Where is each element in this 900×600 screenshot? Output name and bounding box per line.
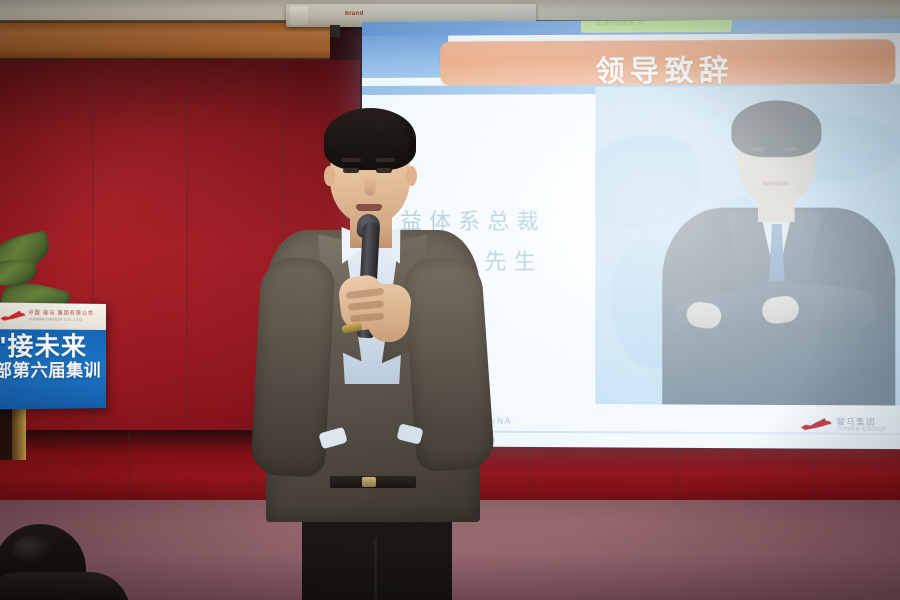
wood-beam (0, 23, 330, 61)
velvet-seam (128, 430, 130, 505)
banner-header-en: JUNMA GROUP CO.,LTD (28, 317, 94, 322)
banner-header: 中国 骏马 集团有限公司 JUNMA GROUP CO.,LTD (0, 302, 106, 330)
portrait-figure (648, 94, 900, 406)
speaker-ear-right (406, 166, 417, 186)
footer-right-wordmark: 骏马集团 JUNMA GROUP (837, 417, 887, 433)
audience-head-highlight (12, 536, 52, 564)
speaker-hair (324, 108, 416, 170)
speaker-brow-right (376, 158, 395, 162)
footer-right-cn: 骏马集团 (837, 417, 887, 427)
speaker-nose (364, 176, 376, 196)
portrait-eye-right (785, 147, 797, 151)
banner-subline: 部第六届集训 (0, 362, 106, 381)
roller-end-cap (290, 6, 308, 25)
portrait-hair (731, 100, 821, 157)
speaker-figure (250, 108, 500, 600)
speaker-eye-right (376, 168, 392, 173)
speaker-ear-left (324, 166, 335, 186)
slide-footer-logo-right: 骏马集团 JUNMA GROUP (801, 417, 887, 433)
speaker-leg-seam (374, 538, 377, 600)
roller-brand-label: brand (345, 11, 364, 17)
speaker-belt-buckle (362, 477, 376, 487)
speaker-mouth (356, 204, 382, 211)
banner-headline: "接未来 (0, 333, 106, 360)
roller-mount-stem (330, 25, 340, 37)
running-horse-icon (0, 310, 25, 322)
slide-portrait-photo (595, 86, 900, 406)
running-horse-icon (801, 418, 832, 431)
standing-banner: 中国 骏马 集团有限公司 JUNMA GROUP CO.,LTD "接未来 部第… (0, 302, 106, 409)
portrait-mouth (762, 181, 789, 185)
presentation-photo-scene: brand 企业内训系列 领导致辞 益体系总裁 建新 先生 (0, 0, 900, 600)
portrait-eye-left (752, 147, 764, 151)
speaker-brow-left (342, 158, 361, 162)
slide-green-tab-label: 企业内训系列 (595, 19, 644, 28)
banner-header-text: 中国 骏马 集团有限公司 JUNMA GROUP CO.,LTD (28, 311, 94, 322)
banner-body: "接未来 部第六届集训 (0, 329, 106, 409)
slide-left-blue-block (362, 36, 448, 78)
footer-right-en: JUNMA GROUP (837, 426, 887, 433)
speaker-eye-left (343, 168, 359, 173)
